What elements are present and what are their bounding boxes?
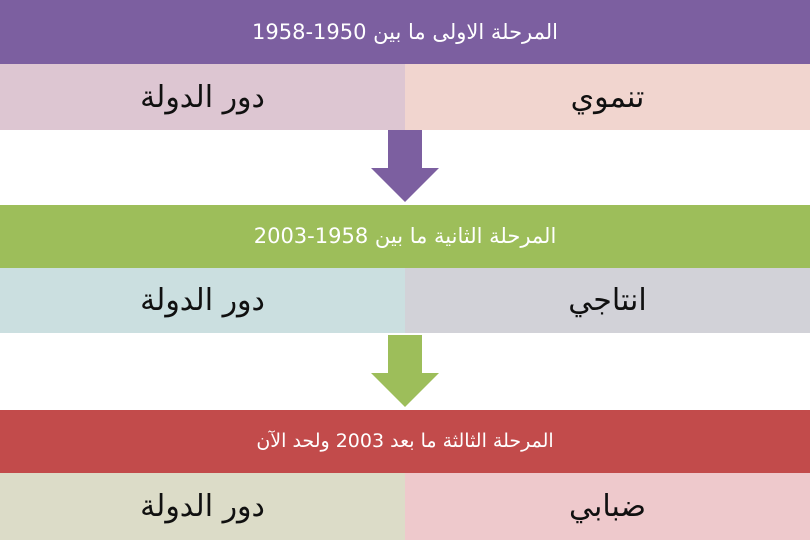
- stage-3-header: المرحلة الثالثة ما بعد 2003 ولحد الآن: [0, 410, 810, 473]
- stage-2-left-label: انتاجي: [568, 284, 646, 317]
- stage-3-left-label: ضبابي: [569, 490, 646, 523]
- stage-1-right-cell: دور الدولة: [0, 64, 405, 130]
- arrow-stage-2-to-3-icon: [371, 335, 439, 407]
- stage-1-left-cell: تنموي: [405, 64, 810, 130]
- arrow-head: [371, 168, 439, 202]
- stage-1-right-label: دور الدولة: [140, 81, 265, 114]
- stage-3-left-cell: ضبابي: [405, 473, 810, 540]
- stage-2-row: دور الدولة انتاجي: [0, 268, 810, 333]
- stage-3-right-label: دور الدولة: [140, 490, 265, 523]
- stage-3-header-label: المرحلة الثالثة ما بعد 2003 ولحد الآن: [256, 431, 553, 453]
- stage-2-right-label: دور الدولة: [140, 284, 265, 317]
- stage-2-header: المرحلة الثانية ما بين 1958-2003: [0, 205, 810, 268]
- arrow-shaft: [388, 335, 422, 375]
- stage-3-row: دور الدولة ضبابي: [0, 473, 810, 540]
- stage-1-row: دور الدولة تنموي: [0, 64, 810, 130]
- stage-1-header-label: المرحلة الاولى ما بين 1950-1958: [252, 20, 558, 44]
- stage-1-header: المرحلة الاولى ما بين 1950-1958: [0, 0, 810, 64]
- stage-1-left-label: تنموي: [571, 81, 645, 114]
- arrow-stage-1-to-2-icon: [371, 130, 439, 202]
- stage-2-header-label: المرحلة الثانية ما بين 1958-2003: [254, 224, 557, 248]
- stage-2-left-cell: انتاجي: [405, 268, 810, 333]
- stages-diagram: المرحلة الاولى ما بين 1950-1958 دور الدو…: [0, 0, 810, 540]
- arrow-shaft: [388, 130, 422, 170]
- stage-2-right-cell: دور الدولة: [0, 268, 405, 333]
- arrow-head: [371, 373, 439, 407]
- stage-3-right-cell: دور الدولة: [0, 473, 405, 540]
